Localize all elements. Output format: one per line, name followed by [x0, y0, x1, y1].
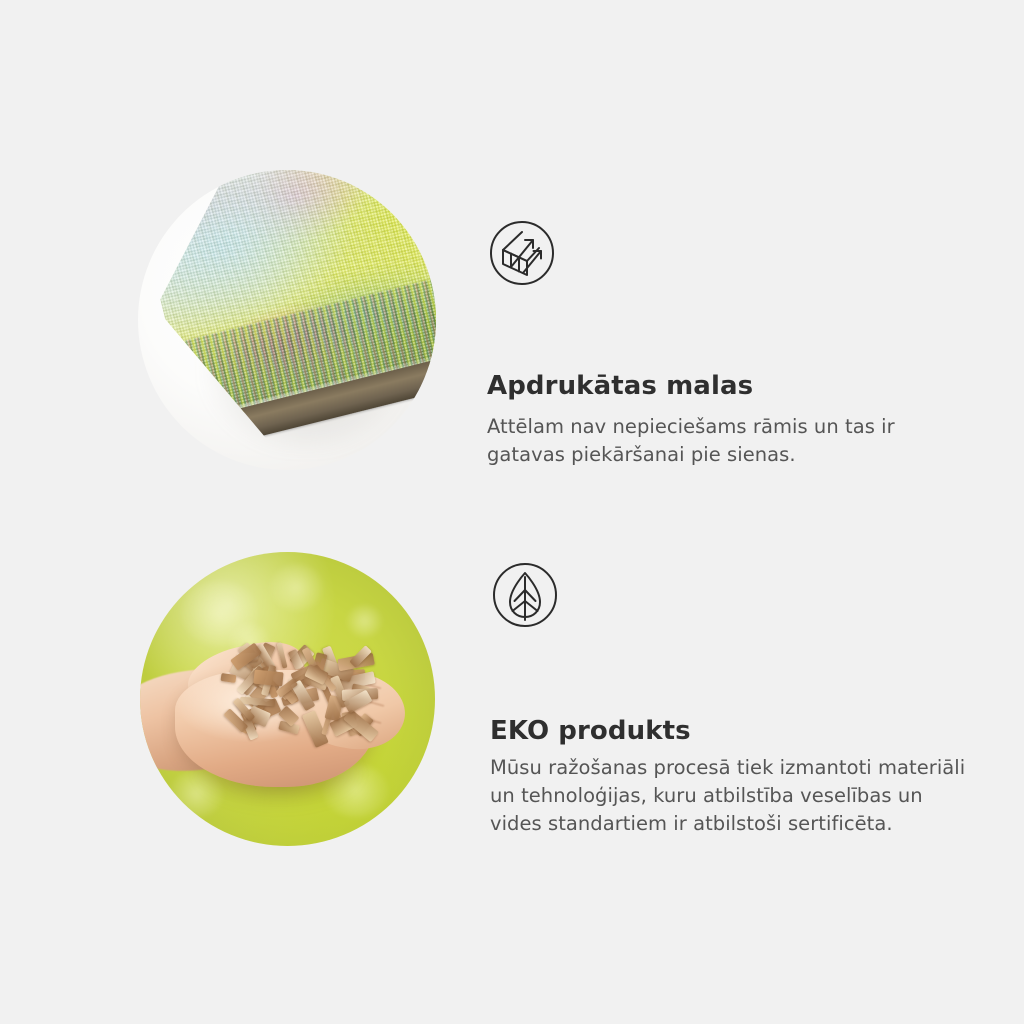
product-features-panel: Apdrukātas malas Attēlam nav nepieciešam…	[0, 0, 1024, 1024]
wood-chip	[277, 642, 288, 669]
wood-chip	[221, 673, 237, 683]
leaf-icon	[490, 560, 560, 630]
feature-title: EKO produkts	[490, 716, 970, 747]
wood-chip-pile	[217, 640, 376, 740]
printed-edges-text: Apdrukātas malas Attēlam nav nepieciešam…	[487, 218, 957, 469]
eco-product-image	[140, 552, 435, 846]
hands-wood-chips-photo	[140, 552, 435, 846]
feature-description: Attēlam nav nepieciešams rāmis un tas ir…	[487, 413, 957, 468]
feature-description: Mūsu ražošanas procesā tiek izmantoti ma…	[490, 754, 970, 837]
print-block	[138, 170, 436, 470]
bokeh-highlight	[270, 564, 323, 611]
printed-edges-icon	[487, 218, 557, 288]
bokeh-highlight	[347, 605, 382, 637]
canvas-print-photo	[138, 170, 436, 470]
eco-product-text: EKO produkts Mūsu ražošanas procesā tiek…	[490, 560, 970, 837]
printed-edges-image	[138, 170, 436, 470]
feature-title: Apdrukātas malas	[487, 371, 957, 402]
print-clip	[138, 170, 436, 470]
